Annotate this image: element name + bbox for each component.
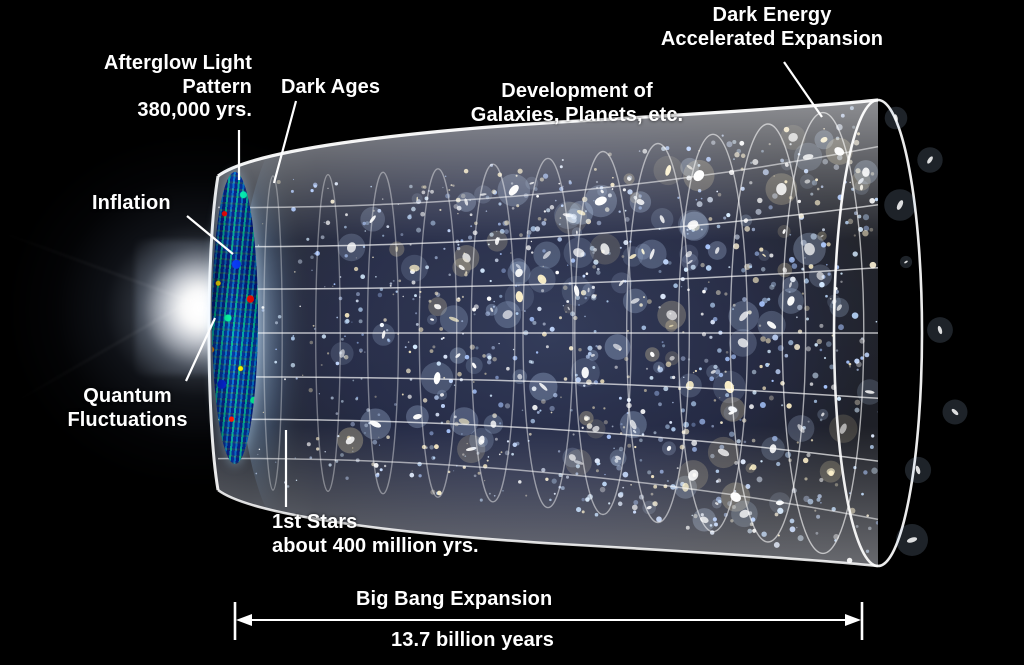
label-dark-energy: Dark Energy Accelerated Expansion bbox=[652, 4, 892, 51]
label-development-of-galaxies: Development of Galaxies, Planets, etc. bbox=[457, 80, 697, 127]
label-inflation: Inflation bbox=[92, 192, 171, 216]
leader-inflation bbox=[187, 216, 233, 254]
leader-quantum bbox=[186, 318, 215, 381]
scalebar-arrow-left bbox=[236, 614, 252, 626]
leader-dark-energy bbox=[784, 62, 822, 117]
label-dark-ages: Dark Ages bbox=[281, 76, 380, 100]
label-big-bang-expansion: Big Bang Expansion bbox=[356, 588, 552, 612]
label-afterglow-light-pattern: Afterglow Light Pattern 380,000 yrs. bbox=[84, 52, 252, 123]
label-quantum-fluctuations: Quantum Fluctuations bbox=[60, 385, 195, 432]
label-total-years: 13.7 billion years bbox=[391, 629, 554, 653]
scalebar-arrow-right bbox=[845, 614, 861, 626]
universe-timeline-figure: Afterglow Light Pattern 380,000 yrs. Inf… bbox=[0, 0, 1024, 665]
label-first-stars: 1st Stars about 400 million yrs. bbox=[272, 511, 479, 558]
leader-dark-ages bbox=[274, 101, 296, 183]
